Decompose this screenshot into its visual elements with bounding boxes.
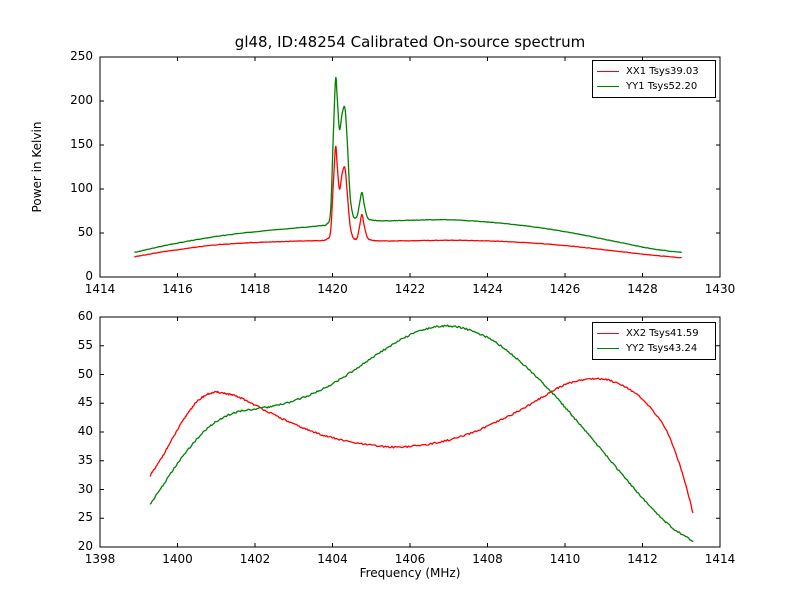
bottom-panel-plot-area (0, 0, 800, 600)
legend-label: YY2 Tsys43.24 (626, 344, 697, 354)
legend-label: XX2 Tsys41.59 (626, 329, 699, 339)
legend-entry: XX2 Tsys41.59 (597, 326, 711, 341)
bottom-ytick-label: 60 (38, 309, 93, 323)
figure-canvas: gl48, ID:48254 Calibrated On-source spec… (0, 0, 800, 600)
top-ytick-label: 150 (38, 137, 93, 151)
bottom-xtick-label: 1410 (535, 552, 595, 566)
bottom-ytick-label: 35 (38, 453, 93, 467)
bottom-panel-legend: XX2 Tsys41.59YY2 Tsys43.24 (592, 322, 716, 360)
bottom-ytick-label: 25 (38, 510, 93, 524)
bottom-ytick-label: 55 (38, 338, 93, 352)
top-ytick-label: 250 (38, 49, 93, 63)
bottom-ytick-label: 20 (38, 539, 93, 553)
top-xtick-label: 1416 (148, 282, 208, 296)
bottom-xtick-label: 1398 (70, 552, 130, 566)
bottom-xtick-label: 1404 (303, 552, 363, 566)
bottom-ytick-label: 50 (38, 367, 93, 381)
bottom-xtick-label: 1412 (613, 552, 673, 566)
bottom-ytick-label: 45 (38, 395, 93, 409)
bottom-ytick-label: 40 (38, 424, 93, 438)
top-ytick-label: 50 (38, 225, 93, 239)
top-xtick-label: 1420 (303, 282, 363, 296)
bottom-xtick-label: 1414 (690, 552, 750, 566)
bottom-xtick-label: 1406 (380, 552, 440, 566)
top-xtick-label: 1430 (690, 282, 750, 296)
legend-color-swatch (597, 348, 619, 349)
top-xtick-label: 1424 (458, 282, 518, 296)
legend-entry: YY2 Tsys43.24 (597, 341, 711, 356)
top-ytick-label: 0 (38, 269, 93, 283)
bottom-xtick-label: 1402 (225, 552, 285, 566)
top-xtick-label: 1422 (380, 282, 440, 296)
top-ytick-label: 100 (38, 181, 93, 195)
bottom-xtick-label: 1400 (148, 552, 208, 566)
top-xtick-label: 1426 (535, 282, 595, 296)
top-xtick-label: 1418 (225, 282, 285, 296)
bottom-xtick-label: 1408 (458, 552, 518, 566)
bottom-ytick-label: 30 (38, 482, 93, 496)
top-xtick-label: 1428 (613, 282, 673, 296)
top-xtick-label: 1414 (70, 282, 130, 296)
bottom-series-line (150, 378, 693, 512)
top-ytick-label: 200 (38, 93, 93, 107)
legend-color-swatch (597, 333, 619, 334)
